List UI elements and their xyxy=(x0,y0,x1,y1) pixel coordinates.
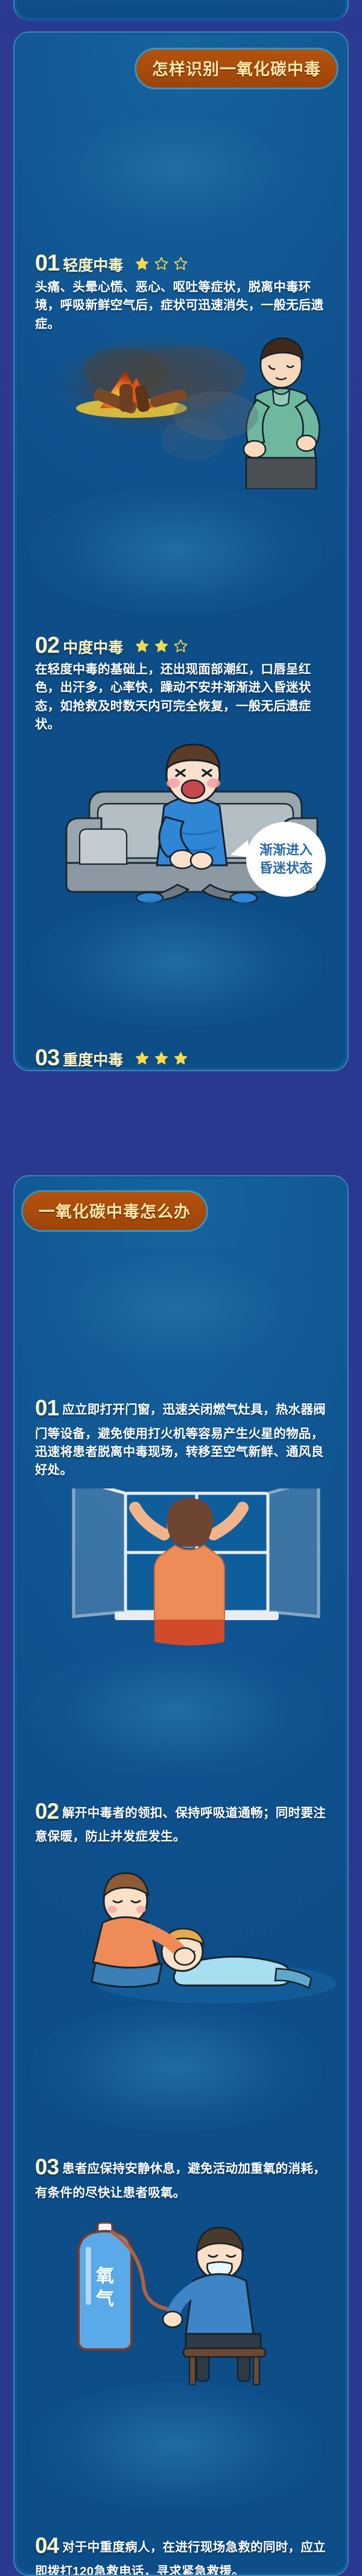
item-firstaid-01-body: 应立即打开门窗，迅速关闭燃气灶具，热水器阀门等设备，避免使用打火机等容易产生火星… xyxy=(35,1403,326,1477)
item-firstaid-01-number: 01 xyxy=(35,1395,59,1420)
section-title-firstaid-pill: 一氧化碳中毒怎么办 xyxy=(23,1192,206,1230)
item-identify-01: 01 轻度中毒 头痛、头晕心慌、恶心、呕吐等症状，脱离中毒环境，呼吸新鲜空气后，… xyxy=(14,125,348,489)
infographic-page: 怎样识别一氧化碳中毒 01 轻度中毒 头痛、头晕心慌、恶心、呕吐等症状，脱离中毒… xyxy=(0,0,362,2569)
oxygen-cylinder: 氧 气 xyxy=(78,2223,171,2350)
item-firstaid-03: 03患者应保持安静休息，避免活动加重氧的消耗，有条件的尽快让患者吸氧。 氧 气 xyxy=(14,2024,348,2387)
section-gap-top xyxy=(0,21,362,31)
oxygen-label-line2: 气 xyxy=(96,2289,114,2309)
oxygen-label-line1: 氧 xyxy=(96,2266,114,2286)
item-glow xyxy=(30,1648,322,1775)
item-01-severity: 轻度中毒 xyxy=(63,258,123,274)
illustration-woman-opening-window xyxy=(35,1488,327,1650)
item-02-head: 02 中度中毒 xyxy=(35,634,327,657)
section-title-identify-pill: 怎样识别一氧化碳中毒 xyxy=(136,50,337,88)
section-card-firstaid: 一氧化碳中毒怎么办 01应立即打开门窗，迅速关闭燃气灶具，热水器阀门等设备，避免… xyxy=(13,1175,349,2576)
item-02-severity: 中度中毒 xyxy=(63,641,123,656)
item-03-star-rating xyxy=(135,1051,188,1065)
item-03-severity: 重度中毒 xyxy=(63,1053,123,1068)
section-title-identify-wrap: 怎样识别一氧化碳中毒 xyxy=(14,33,348,88)
item-02-star-rating xyxy=(135,639,188,653)
item-identify-02: 02 中度中毒 在轻度中毒的基础上，还出现面部潮红，口唇呈红色，出汗多，心率快，… xyxy=(14,507,348,903)
item-firstaid-02: 02解开中毒者的领扣、保持呼吸道通畅；同时要注意保暖，防止并发症发生。 xyxy=(14,1668,348,2007)
item-firstaid-03-number: 03 xyxy=(35,2155,59,2179)
item-firstaid-04-text: 04对于中重度病人，在进行现场急救的同时，应立即拨打120急救电话，寻求紧急救援… xyxy=(35,2530,327,2576)
item-glow xyxy=(30,487,322,614)
item-firstaid-04-body: 对于中重度病人，在进行现场急救的同时，应立即拨打120急救电话，寻求紧急救援。 xyxy=(35,2540,326,2576)
item-glow xyxy=(30,2382,322,2509)
item-02-number: 02 xyxy=(35,634,59,657)
illustration-boy-on-sofa-dizzy: 渐渐进入 昏迷状态 xyxy=(35,740,327,903)
item-03-head: 03 重度中毒 xyxy=(35,1046,327,1069)
item-firstaid-02-text: 02解开中毒者的领扣、保持呼吸道通畅；同时要注意保暖，防止并发症发生。 xyxy=(35,1795,327,1847)
item-firstaid-04: 04对于中重度病人，在进行现场急救的同时，应立即拨打120急救电话，寻求紧急救援… xyxy=(14,2403,348,2576)
section-gap-middle xyxy=(0,1071,362,1086)
star-filled-icon xyxy=(135,639,149,653)
item-01-number: 01 xyxy=(35,252,59,275)
item-01-head: 01 轻度中毒 xyxy=(35,252,327,275)
speech-bubble-line2: 昏迷状态 xyxy=(259,860,313,876)
star-filled-icon xyxy=(154,1051,168,1065)
section-card-identify: 怎样识别一氧化碳中毒 01 轻度中毒 头痛、头晕心慌、恶心、呕吐等症状，脱离中毒… xyxy=(13,31,349,1071)
item-glow xyxy=(30,899,322,1026)
item-firstaid-02-number: 02 xyxy=(35,1799,59,1824)
speech-bubble-line1: 渐渐进入 xyxy=(259,842,313,857)
star-filled-icon xyxy=(135,1051,149,1065)
star-empty-icon xyxy=(174,639,188,653)
item-glow xyxy=(30,1245,322,1371)
item-glow xyxy=(30,2004,322,2130)
item-01-text: 头痛、头晕心慌、恶心、呕吐等症状，脱离中毒环境，呼吸新鲜空气后，症状可迅速消失，… xyxy=(35,278,327,333)
star-empty-icon xyxy=(154,257,168,271)
item-03-number: 03 xyxy=(35,1046,59,1069)
item-glow xyxy=(30,104,322,231)
section-title-firstaid-text: 一氧化碳中毒怎么办 xyxy=(39,1203,191,1221)
item-firstaid-01-text: 01应立即打开门窗，迅速关闭燃气灶具，热水器阀门等设备，避免使用打火机等容易产生… xyxy=(35,1392,327,1480)
star-filled-icon xyxy=(154,639,168,653)
item-firstaid-02-body: 解开中毒者的领扣、保持呼吸道通畅；同时要注意保暖，防止并发症发生。 xyxy=(35,1806,326,1844)
illustration-patient-with-oxygen-tank: 氧 气 xyxy=(35,2212,327,2387)
section-title-identify-text: 怎样识别一氧化碳中毒 xyxy=(152,60,321,78)
item-01-star-rating xyxy=(135,257,188,271)
star-filled-icon xyxy=(174,1051,188,1065)
item-firstaid-03-text: 03患者应保持安静休息，避免活动加重氧的消耗，有条件的尽快让患者吸氧。 xyxy=(35,2151,327,2202)
previous-card-tail xyxy=(13,0,349,21)
star-filled-icon xyxy=(135,257,149,271)
item-02-text: 在轻度中毒的基础上，还出现面部潮红，口唇呈红色，出汗多，心率快，躁动不安并渐渐进… xyxy=(35,661,327,734)
illustration-man-with-smoky-fire xyxy=(35,337,327,489)
item-firstaid-03-body: 患者应保持安静休息，避免活动加重氧的消耗，有条件的尽快让患者吸氧。 xyxy=(35,2162,326,2200)
item-firstaid-04-number: 04 xyxy=(35,2533,59,2558)
item-firstaid-01: 01应立即打开门窗，迅速关闭燃气灶具，热水器阀门等设备，避免使用打火机等容易产生… xyxy=(14,1265,348,1650)
section-title-firstaid-wrap: 一氧化碳中毒怎么办 xyxy=(14,1176,348,1230)
illustration-rescuer-loosening-collar xyxy=(35,1856,327,2007)
item-identify-03: 03 重度中毒 患者进入昏迷状态，四肢阙冷，面色苍白或紫绀，重度患者死亡率高，即… xyxy=(14,920,348,1071)
star-empty-icon xyxy=(174,257,188,271)
